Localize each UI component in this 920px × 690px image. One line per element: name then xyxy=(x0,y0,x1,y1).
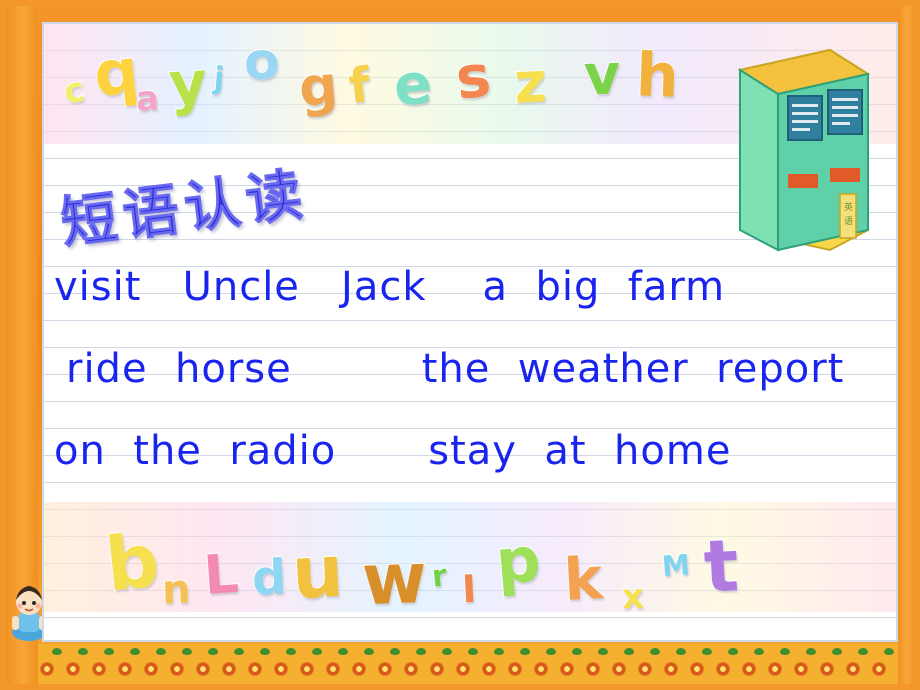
phrase-list: visit Uncle Jack a big farm ride horse t… xyxy=(44,264,896,510)
note-card: cqayjogfeszvh bnLduwrIpkxMt xyxy=(42,22,898,642)
bottom-color-wash xyxy=(44,502,896,612)
phrase-right: the weather report xyxy=(422,346,845,392)
slide-canvas: cqayjogfeszvh bnLduwrIpkxMt xyxy=(0,0,920,690)
phrase-row: on the radio stay at home xyxy=(44,428,896,510)
svg-text:语: 语 xyxy=(844,216,853,227)
phrase-row: visit Uncle Jack a big farm xyxy=(44,264,896,346)
phrase-row: ride horse the weather report xyxy=(44,346,896,428)
phrase-left: visit Uncle Jack xyxy=(54,264,427,310)
phrase-left: ride horse xyxy=(66,346,292,392)
phrase-left: on the radio xyxy=(54,428,336,474)
phrase-right: a big farm xyxy=(483,264,726,310)
phrase-right: stay at home xyxy=(428,428,731,474)
svg-text:英: 英 xyxy=(844,201,853,213)
book-icon: 英语 xyxy=(722,34,872,264)
